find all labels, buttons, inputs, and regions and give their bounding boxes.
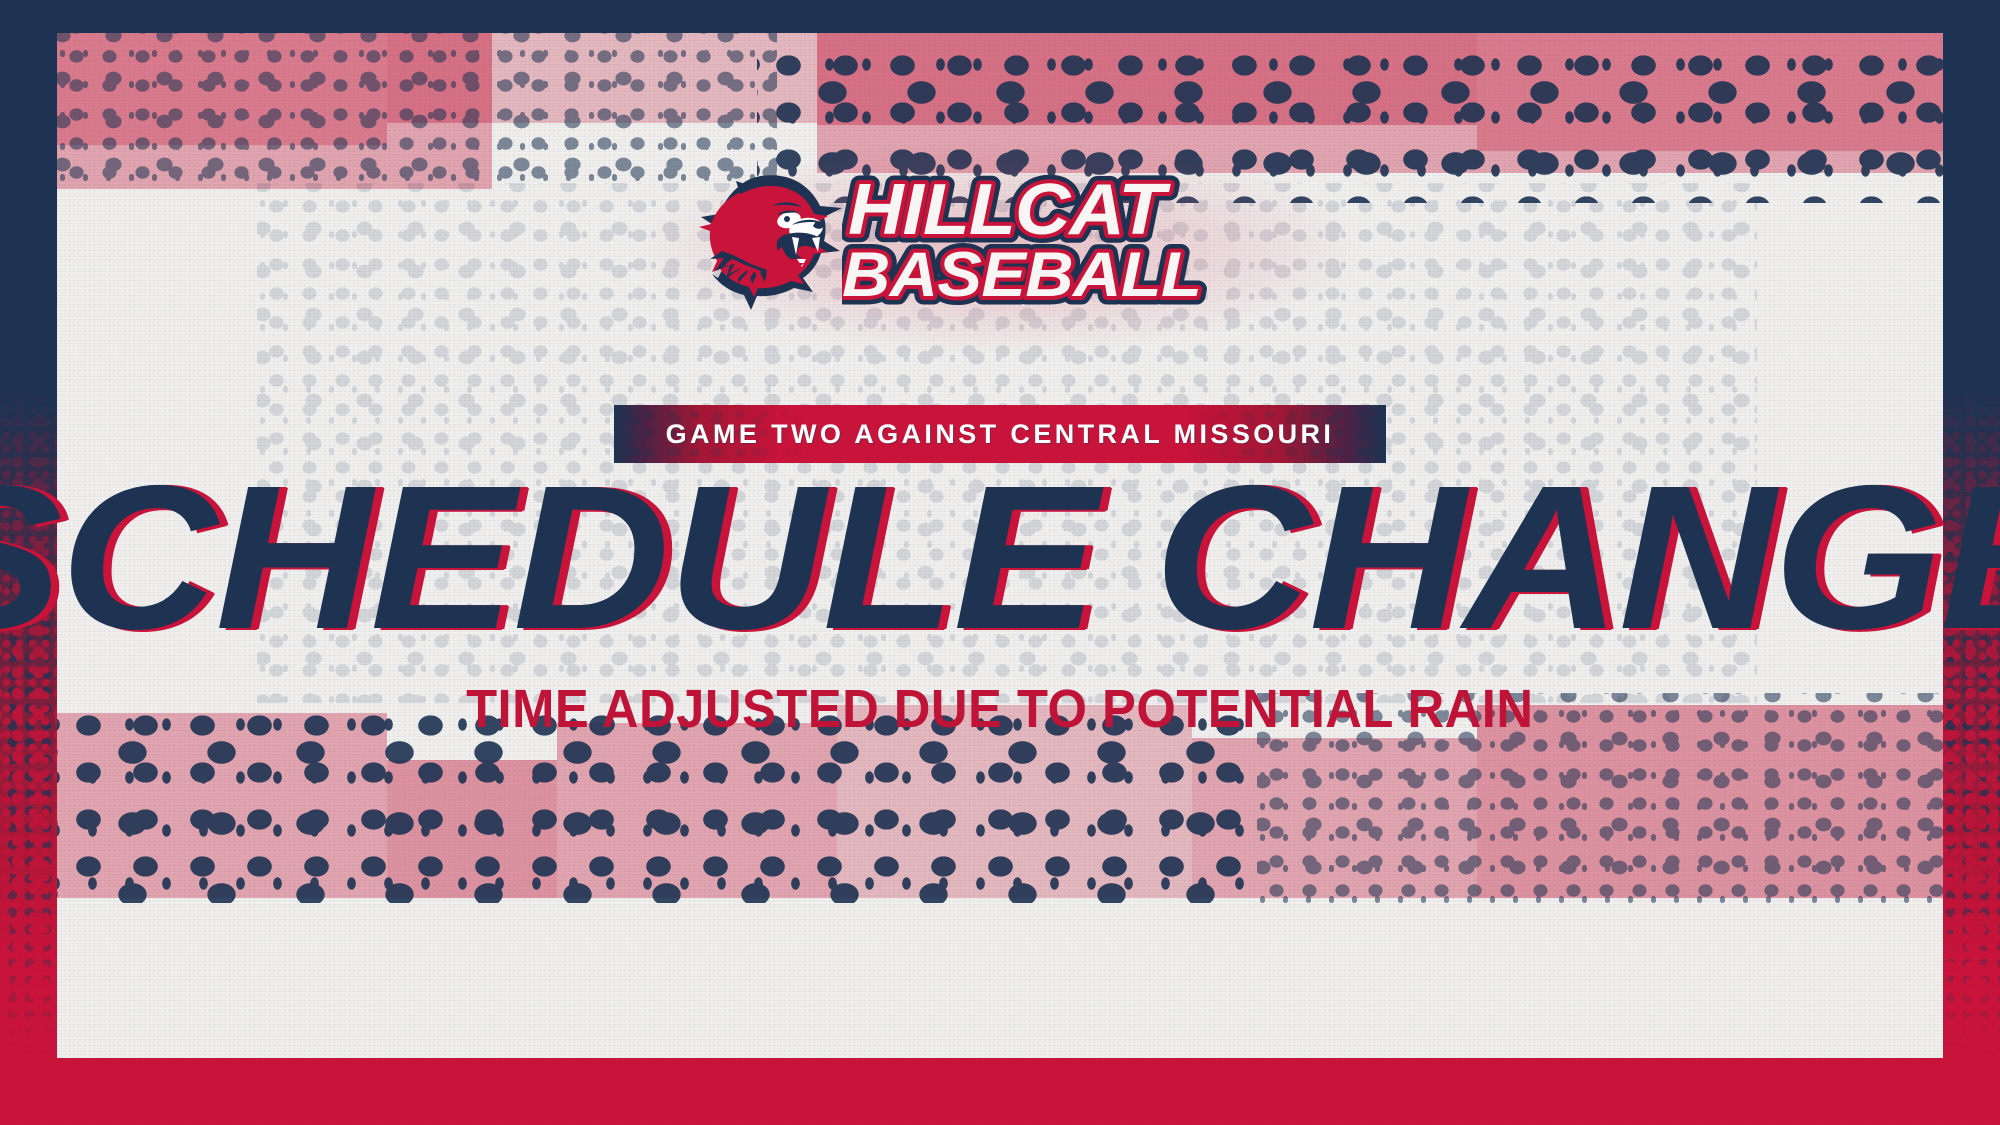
team-logo: .wm-navy{ font-family:"Liberation Sans",… [0,172,2000,324]
wordmark-baseball-fill: BASEBALL [842,239,1201,310]
announcement-graphic: .wm-navy{ font-family:"Liberation Sans",… [0,0,2000,1125]
pink-band-bottom-d [1192,738,1477,898]
pink-band-top-right [1477,33,1943,151]
page-title: SCHEDULE CHANGE [0,455,2000,660]
pink-band-top-b [57,33,492,189]
hillcat-baseball-wordmark: .wm-navy{ font-family:"Liberation Sans",… [842,172,1312,324]
pink-band-bottom-left [57,713,387,898]
headline-wrap: SCHEDULE CHANGE [0,455,2000,660]
pink-band-bottom-a [387,760,557,898]
subtitle-text: TIME ADJUSTED DUE TO POTENTIAL RAIN [466,678,1533,740]
pink-band-bottom-b [557,723,837,898]
pink-band-top-c [492,33,817,123]
wildcat-head-icon [688,173,848,323]
subtitle-wrap: TIME ADJUSTED DUE TO POTENTIAL RAIN [0,678,2000,740]
